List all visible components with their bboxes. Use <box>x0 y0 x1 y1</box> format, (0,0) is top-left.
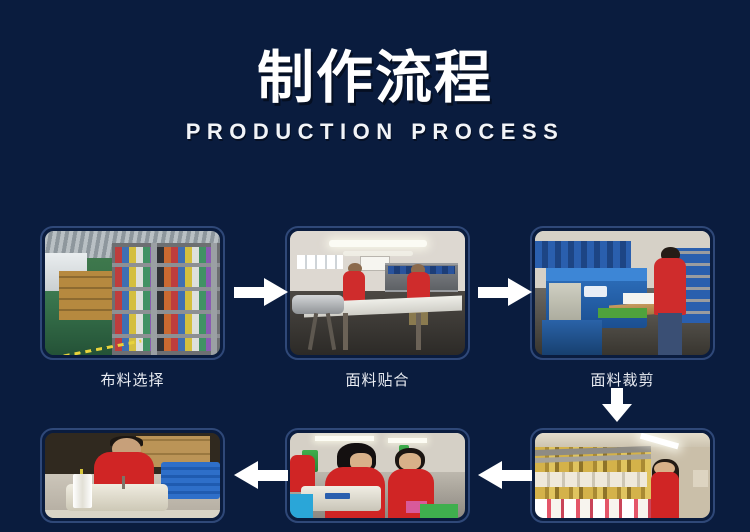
door-detail <box>693 470 709 487</box>
roll-stand-detail <box>325 313 335 350</box>
arrow-shaft <box>234 287 264 298</box>
sewing-line-photo <box>290 433 465 518</box>
worker-red-shirt-detail <box>651 472 679 518</box>
machine-panel-detail <box>549 283 581 325</box>
machine-panels-detail <box>535 472 647 487</box>
shelf-bar-detail <box>112 334 221 338</box>
arrow-shaft <box>258 470 288 481</box>
machine-logo-detail <box>584 286 607 297</box>
page-subtitle-english: PRODUCTION PROCESS <box>0 119 750 145</box>
worker-face-detail <box>399 453 422 469</box>
fabric-cutting-photo <box>535 231 710 355</box>
process-step-3: 面料裁剪 <box>530 226 715 390</box>
process-step-1: 布料选择 <box>40 226 225 390</box>
blue-basket-detail <box>161 462 221 499</box>
machine-top-detail <box>546 268 648 280</box>
thread-spool-detail <box>73 474 92 508</box>
embroidery-photo <box>535 433 710 518</box>
blue-bin-detail <box>290 494 313 518</box>
process-row-top: 布料选择 <box>0 226 750 390</box>
arrow-step3-to-step4-icon <box>602 388 632 422</box>
fabric-bonding-photo <box>290 231 465 355</box>
process-step-2-caption: 面料贴合 <box>285 369 470 390</box>
page-title-chinese: 制作流程 <box>0 46 750 110</box>
arrow-head <box>478 461 502 489</box>
arrow-head <box>602 404 632 422</box>
roll-stand-detail <box>308 313 318 350</box>
machine-base-detail <box>542 320 602 355</box>
arrow-head <box>234 461 258 489</box>
ceiling-detail <box>535 433 710 447</box>
arrow-shaft <box>478 287 508 298</box>
parts-rack-detail <box>535 241 631 268</box>
photo-frame-6 <box>530 428 715 523</box>
rack-post-detail <box>151 243 157 355</box>
fabric-warehouse-photo <box>45 231 220 355</box>
production-process-banner: 制作流程 PRODUCTION PROCESS <box>0 0 750 523</box>
fluorescent-lamp-detail <box>388 438 427 443</box>
worker-red-shirt-detail <box>654 258 686 315</box>
fluorescent-lamp-detail <box>315 436 375 441</box>
cutting-mat-detail <box>598 308 647 318</box>
photo-frame-4 <box>40 428 225 523</box>
table-leg-detail <box>416 313 421 350</box>
shelf-bar-detail <box>112 263 221 267</box>
arrow-step5-to-step6-icon <box>234 461 288 489</box>
photo-frame-5 <box>285 428 470 523</box>
shelf-bar-detail <box>112 287 221 291</box>
fluorescent-lamp-detail <box>329 240 427 247</box>
embroidery-frames-detail <box>535 499 661 518</box>
process-row-bottom <box>0 428 750 532</box>
banner-header: 制作流程 PRODUCTION PROCESS <box>0 46 750 145</box>
photo-frame-1 <box>40 226 225 360</box>
process-step-5 <box>285 428 470 532</box>
fabric-roll-detail <box>292 295 345 314</box>
process-step-3-caption: 面料裁剪 <box>530 369 715 390</box>
worker-legs-detail <box>658 313 683 355</box>
table-leg-detail <box>343 313 348 350</box>
material-sheet-detail <box>623 293 655 304</box>
arrow-step1-to-step2-icon <box>234 278 288 306</box>
process-step-2: 面料贴合 <box>285 226 470 390</box>
sewing-single-photo <box>45 433 220 518</box>
photo-frame-2 <box>285 226 470 360</box>
machine-brand-plate-detail <box>325 493 350 500</box>
shelf-bar-detail <box>112 310 221 314</box>
process-step-4 <box>40 428 225 532</box>
arrow-step2-to-step3-icon <box>478 278 532 306</box>
arrow-shaft <box>502 470 532 481</box>
process-step-6 <box>530 428 715 532</box>
needle-detail <box>122 476 125 490</box>
stacked-boxes-detail <box>59 271 115 321</box>
arrow-head <box>508 278 532 306</box>
arrow-head <box>264 278 288 306</box>
photo-frame-3 <box>530 226 715 360</box>
process-step-1-caption: 布料选择 <box>40 369 225 390</box>
rack-post-detail <box>211 243 217 355</box>
green-material-detail <box>420 504 459 518</box>
arrow-step4-to-step5-icon <box>478 461 532 489</box>
wall-poster-detail <box>297 255 343 270</box>
